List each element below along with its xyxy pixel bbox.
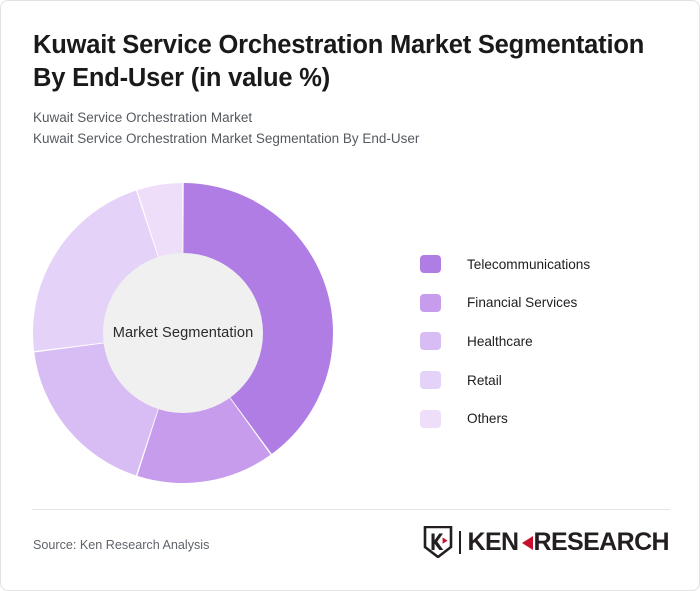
legend-label: Financial Services	[467, 295, 577, 310]
subtitle-market: Kuwait Service Orchestration Market	[33, 108, 659, 129]
donut-chart: Telecommunications 40%Financial Services…	[32, 182, 334, 484]
brand-wordmark: KEN RESEARCH	[468, 530, 669, 555]
legend-label: Telecommunications	[467, 257, 590, 272]
legend-swatch	[420, 255, 441, 273]
chart-header: Kuwait Service Orchestration Market Segm…	[33, 29, 659, 149]
subtitle-segmentation: Kuwait Service Orchestration Market Segm…	[33, 129, 659, 150]
donut-svg: Telecommunications 40%Financial Services…	[32, 182, 334, 484]
chart-card: Kuwait Service Orchestration Market Segm…	[0, 0, 700, 591]
legend-swatch	[420, 410, 441, 428]
legend-swatch	[420, 371, 441, 389]
legend-swatch	[420, 332, 441, 350]
legend-item[interactable]: Telecommunications	[420, 245, 670, 284]
legend-swatch	[420, 294, 441, 312]
page-title: Kuwait Service Orchestration Market Segm…	[33, 29, 659, 94]
brand-research: RESEARCH	[534, 530, 670, 555]
ken-research-shield-icon	[423, 526, 453, 558]
brand-arrow-icon	[522, 536, 533, 550]
brand-ken: KEN	[468, 530, 519, 555]
legend-item[interactable]: Retail	[420, 361, 670, 400]
logo-separator	[459, 531, 461, 554]
legend-item[interactable]: Healthcare	[420, 322, 670, 361]
legend-label: Others	[467, 411, 508, 426]
legend-item[interactable]: Financial Services	[420, 284, 670, 323]
subtitle-group: Kuwait Service Orchestration Market Kuwa…	[33, 108, 659, 149]
source-note: Source: Ken Research Analysis	[33, 538, 209, 552]
ken-research-logo: KEN RESEARCH	[423, 525, 669, 559]
legend-item[interactable]: Others	[420, 399, 670, 438]
legend-label: Healthcare	[467, 334, 533, 349]
legend-label: Retail	[467, 373, 502, 388]
chart-area: Telecommunications 40%Financial Services…	[1, 171, 700, 501]
footer-divider	[32, 509, 670, 510]
donut-hole	[103, 253, 263, 413]
chart-legend: TelecommunicationsFinancial ServicesHeal…	[420, 245, 670, 438]
